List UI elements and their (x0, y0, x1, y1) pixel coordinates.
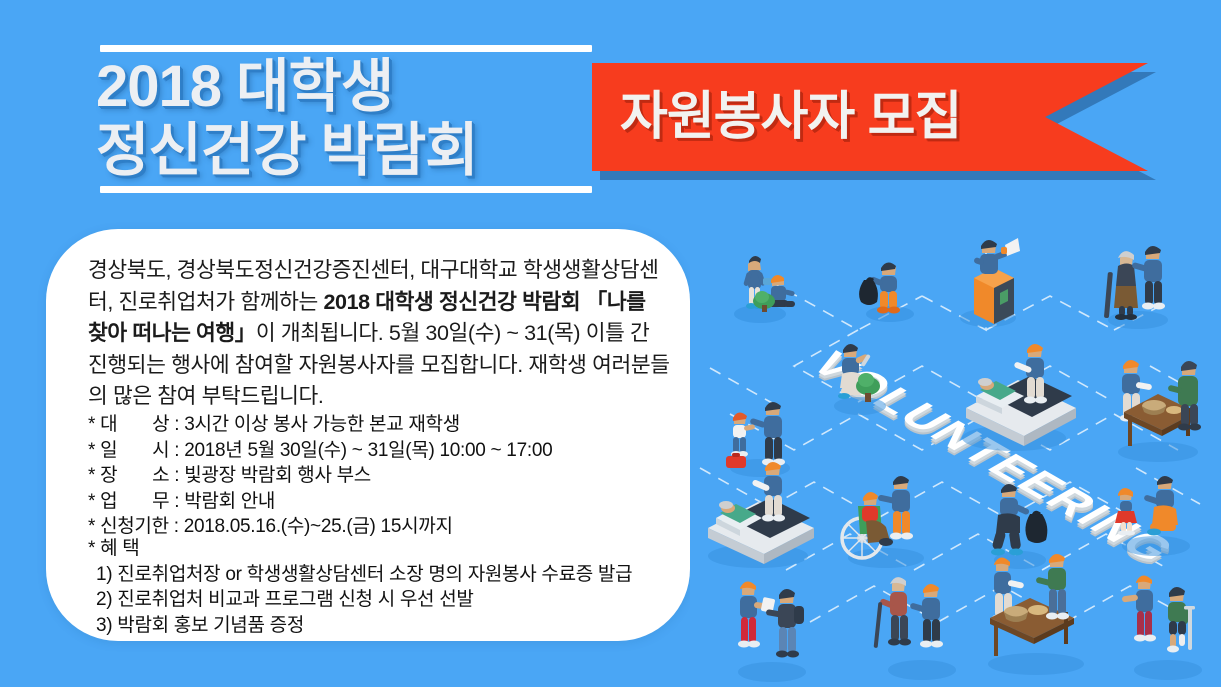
recruitment-ribbon: 자원봉사자 모집 (592, 63, 1162, 179)
list-item: * 대 상 : 3시간 이상 봉사 가능한 본교 재학생 (88, 412, 678, 438)
poster-title: 2018 대학생 정신건강 박람회 (96, 52, 596, 186)
poster-canvas: 2018 대학생 정신건강 박람회 자원봉사자 모집 경상북도, 경상북도정신건… (0, 0, 1221, 687)
title-line-1: 2018 대학생 (96, 55, 596, 119)
list-item: * 장 소 : 빛광장 박람회 행사 부스 (88, 463, 678, 489)
benefit-item: 2) 진로취업처 비교과 프로그램 신청 시 우선 선발 (88, 587, 688, 613)
isometric-scene-svg: VOLUNTEERING VOLUNTEERING VOLUNTEERING (690, 218, 1221, 687)
benefit-item: 3) 박람회 홍보 기념품 증정 (88, 613, 688, 639)
info-card-content: 경상북도, 경상북도정신건강증진센터, 대구대학교 학생생활상담센터, 진로취업… (46, 236, 690, 640)
ribbon-label: 자원봉사자 모집 (620, 89, 961, 145)
poster-header: 2018 대학생 정신건강 박람회 자원봉사자 모집 (0, 0, 1221, 215)
title-line-2: 정신건강 박람회 (96, 119, 596, 183)
intro-paragraph: 경상북도, 경상북도정신건강증진센터, 대구대학교 학생생활상담센터, 진로취업… (88, 255, 670, 413)
benefits-section: * 혜 택 1) 진로취업처장 or 학생생활상담센터 소장 명의 자원봉사 수… (88, 536, 688, 638)
title-rule-bottom (100, 186, 592, 193)
list-item: * 일 시 : 2018년 5월 30일(수) ~ 31일(목) 10:00 ~… (88, 438, 678, 464)
title-rule-top (100, 45, 592, 52)
details-list: * 대 상 : 3시간 이상 봉사 가능한 본교 재학생 * 일 시 : 201… (88, 412, 678, 540)
list-item: * 업 무 : 박람회 안내 (88, 489, 678, 515)
benefit-item: 1) 진로취업처장 or 학생생활상담센터 소장 명의 자원봉사 수료증 발급 (88, 562, 688, 588)
benefits-heading: * 혜 택 (88, 536, 688, 562)
volunteering-illustration: VOLUNTEERING VOLUNTEERING VOLUNTEERING (690, 218, 1221, 687)
